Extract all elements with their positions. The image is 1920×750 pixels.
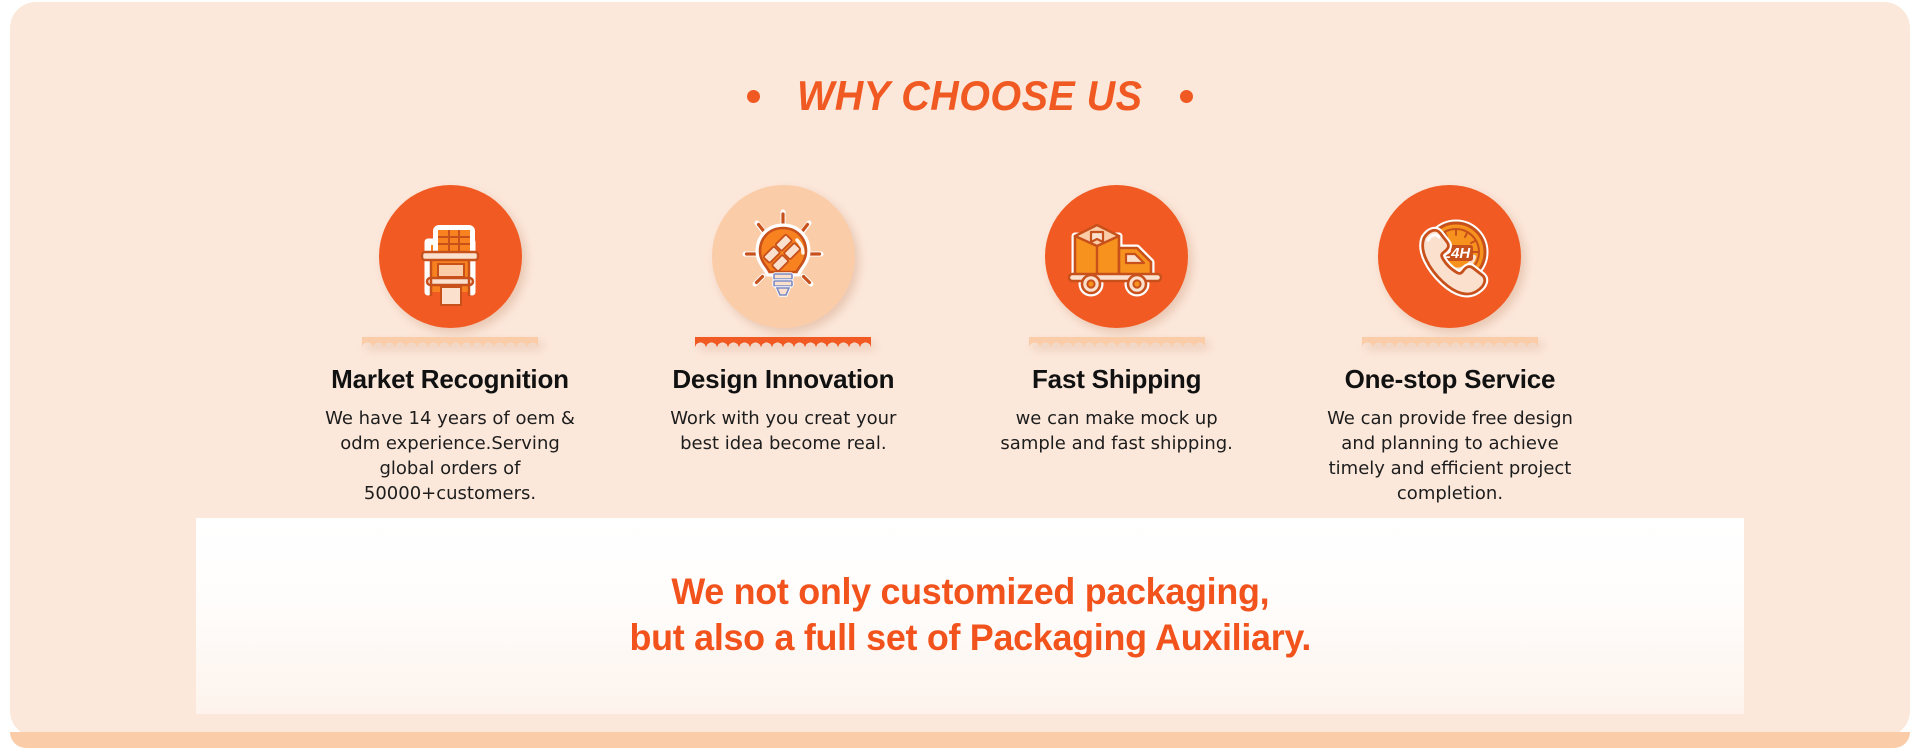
icon-disc bbox=[379, 185, 522, 328]
icon-disc: 24H bbox=[1378, 185, 1521, 328]
bullet-dot-left-icon bbox=[747, 90, 760, 103]
promo-banner-line-2: but also a full set of Packaging Auxilia… bbox=[629, 615, 1311, 661]
feature-card-description: We can provide free design and planning … bbox=[1316, 406, 1584, 506]
stamp-tile bbox=[362, 180, 538, 348]
feature-card-title: Fast Shipping bbox=[1032, 364, 1201, 395]
feature-card-title: Market Recognition bbox=[331, 364, 569, 395]
bullet-dot-right-icon bbox=[1180, 90, 1193, 103]
stamp-tile: 24H bbox=[1362, 180, 1538, 348]
feature-card-market-recognition[interactable]: Market Recognition We have 14 years of o… bbox=[300, 180, 600, 506]
phone-24h-clock-icon: 24H bbox=[1396, 202, 1504, 310]
stamp-tile bbox=[1029, 180, 1205, 348]
icon-disc bbox=[712, 185, 855, 328]
panel-bottom-strip bbox=[10, 732, 1910, 748]
feature-card-description: we can make mock up sample and fast ship… bbox=[983, 406, 1251, 456]
feature-card-title: Design Innovation bbox=[672, 364, 894, 395]
feature-card-description: Work with you creat your best idea becom… bbox=[649, 406, 917, 456]
why-choose-us-section: WHY CHOOSE US bbox=[0, 0, 1920, 750]
delivery-truck-icon bbox=[1063, 202, 1171, 310]
feature-card-list: Market Recognition We have 14 years of o… bbox=[300, 180, 1600, 506]
feature-card-fast-shipping[interactable]: Fast Shipping we can make mock up sample… bbox=[967, 180, 1267, 456]
promo-banner: We not only customized packaging, but al… bbox=[196, 518, 1744, 714]
stamp-tile bbox=[695, 180, 871, 348]
feature-card-title: One-stop Service bbox=[1345, 364, 1556, 395]
feature-card-description: We have 14 years of oem & odm experience… bbox=[316, 406, 584, 506]
promo-banner-line-1: We not only customized packaging, bbox=[629, 569, 1311, 615]
feature-card-one-stop-service[interactable]: 24H One-stop Service We can provide free… bbox=[1300, 180, 1600, 506]
page-title: WHY CHOOSE US bbox=[797, 72, 1142, 120]
factory-building-icon bbox=[398, 204, 502, 308]
section-title-row: WHY CHOOSE US bbox=[10, 72, 1910, 120]
icon-disc bbox=[1045, 185, 1188, 328]
lightbulb-handshake-icon bbox=[731, 204, 835, 308]
feature-card-design-innovation[interactable]: Design Innovation Work with you creat yo… bbox=[633, 180, 933, 456]
section-panel: WHY CHOOSE US bbox=[10, 2, 1910, 737]
